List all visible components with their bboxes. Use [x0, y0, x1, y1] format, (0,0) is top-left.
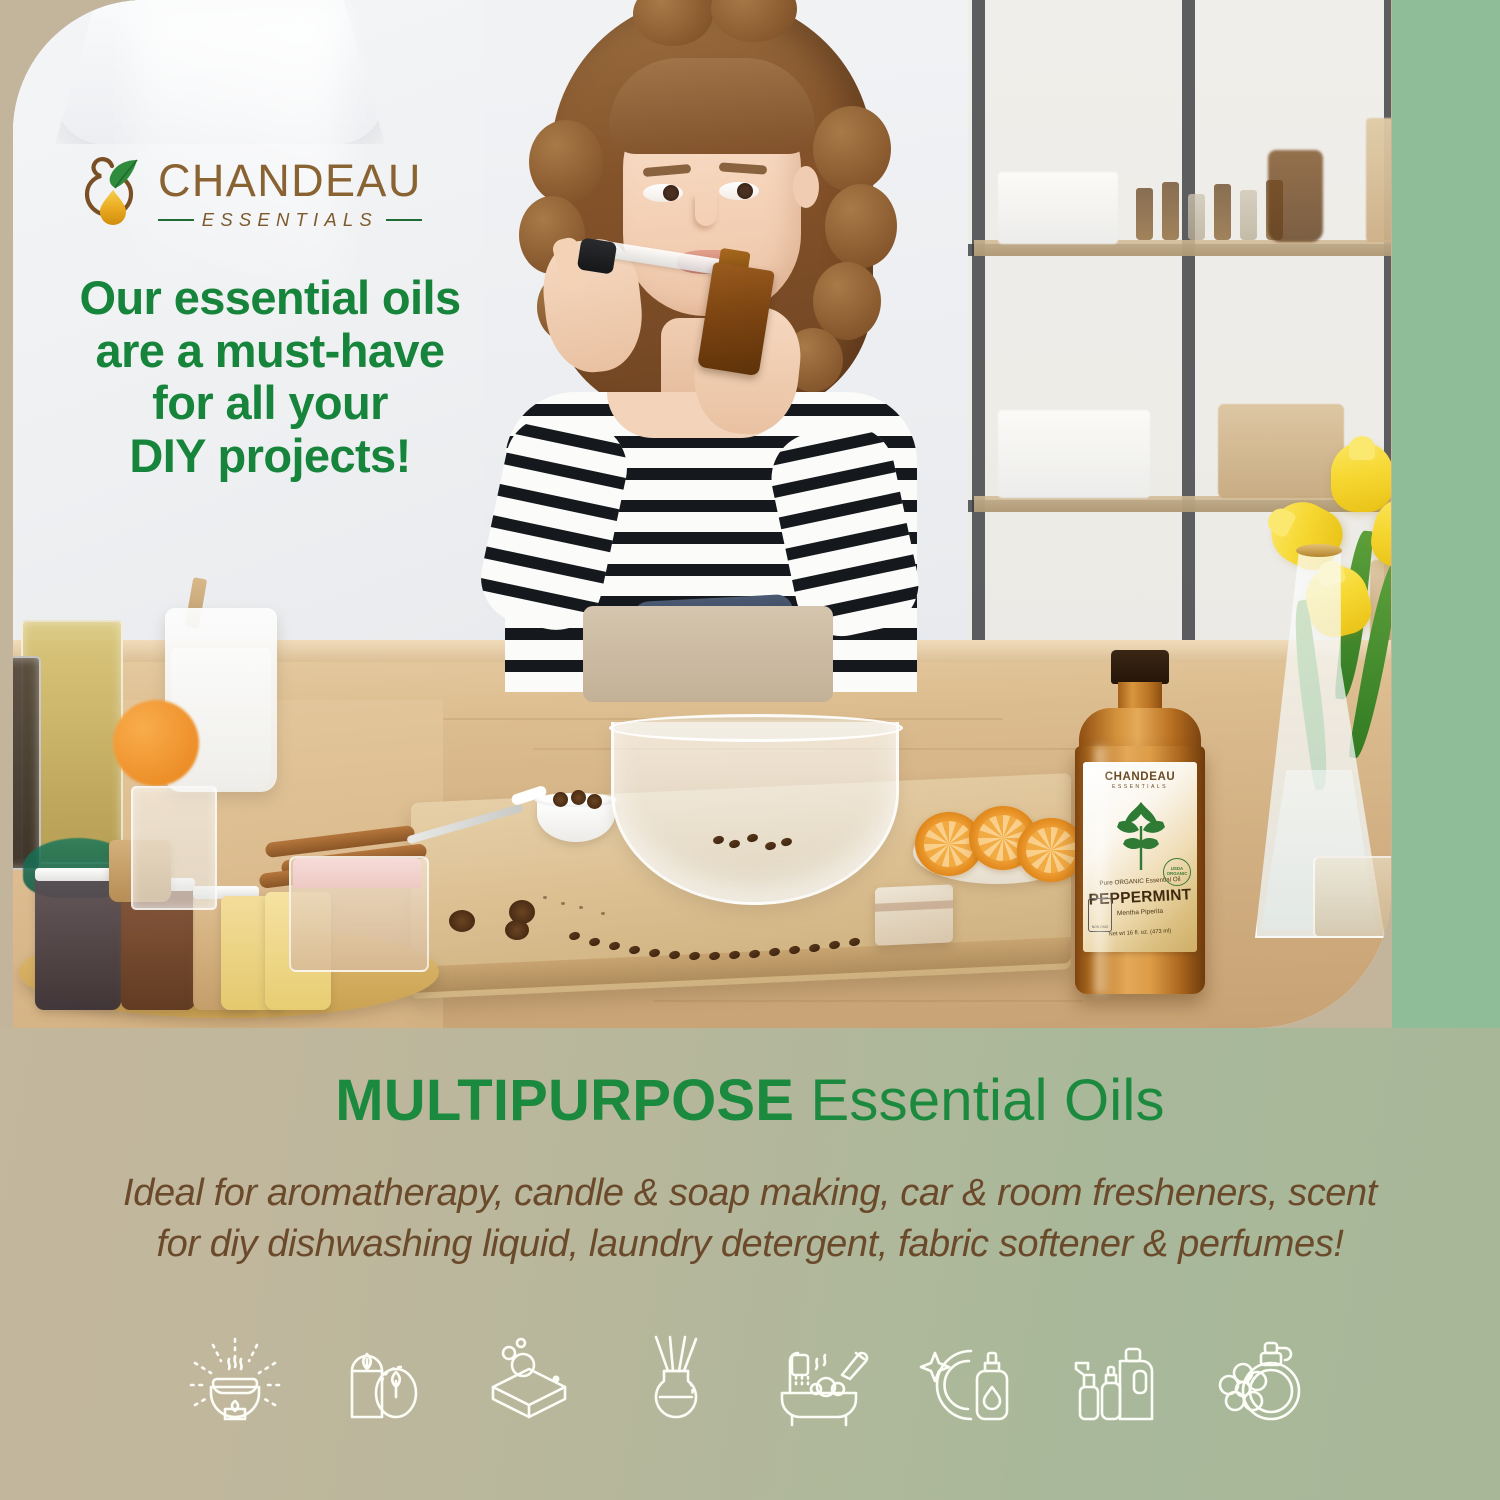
small-vase: [1313, 856, 1391, 938]
nose: [695, 194, 717, 226]
orange-fruit: [113, 700, 199, 786]
dropper-bulb: [577, 237, 618, 274]
seed-tube-jar: [13, 656, 41, 870]
headline-line-2: are a must-have: [60, 325, 480, 378]
use-case-icon-row: [180, 1318, 1320, 1448]
bottom-subtitle-line-2: for diy dishwashing liquid, laundry dete…: [48, 1219, 1452, 1270]
lamp-glow: [133, 0, 343, 290]
hair-fringe: [609, 58, 815, 154]
glass-bowl-rim: [609, 714, 903, 742]
headline: Our essential oils are a must-have for a…: [60, 272, 480, 483]
soap-bar: [875, 884, 953, 946]
glass-container: [131, 786, 217, 910]
bottom-title-light: Essential Oils: [811, 1068, 1165, 1133]
bottle-cap: [1111, 650, 1169, 684]
headline-line-3: for all your: [60, 377, 480, 430]
apron: [583, 606, 833, 702]
brand-wordmark: CHANDEAU ESSENTIALS: [158, 158, 422, 231]
brand-tagline: ESSENTIALS: [202, 209, 378, 231]
reed-diffuser-icon: [621, 1324, 731, 1442]
brand-logo: CHANDEAU ESSENTIALS: [82, 148, 422, 240]
bottom-subtitle-line-1: Ideal for aromatherapy, candle & soap ma…: [48, 1168, 1452, 1219]
person-smelling-oil: [483, 0, 933, 688]
brand-name: CHANDEAU: [158, 158, 422, 203]
dishwashing-liquid-icon: [916, 1324, 1026, 1442]
background-green-strip: [1392, 0, 1500, 1040]
laundry-detergent-icon: [1063, 1324, 1173, 1442]
product-bottle: CHANDEAU ESSENTIALS Pure ORGANIC Essenti…: [1065, 650, 1215, 1000]
bottom-subtitle: Ideal for aromatherapy, candle & soap ma…: [48, 1168, 1452, 1270]
tagline-rule-left: [158, 219, 194, 221]
product-infographic: CHANDEAU ESSENTIALS Pure ORGANIC Essenti…: [0, 0, 1500, 1500]
spice-jar: [35, 874, 121, 1010]
bottom-title: MULTIPURPOSE Essential Oils: [0, 1072, 1500, 1130]
ear: [793, 166, 819, 208]
carafe-gold-rim: [1296, 544, 1342, 557]
headline-line-1: Our essential oils: [60, 272, 480, 325]
bath-dropper-icon: [769, 1324, 879, 1442]
brand-tagline-row: ESSENTIALS: [158, 209, 422, 231]
oil-burner-diffuser-icon: [180, 1324, 290, 1442]
bottle-highlight: [1095, 746, 1113, 994]
headline-line-4: DIY projects!: [60, 430, 480, 483]
tagline-rule-right: [386, 219, 422, 221]
perfume-flower-icon: [1210, 1324, 1320, 1442]
candles-icon: [327, 1324, 437, 1442]
soap-bar-icon: [474, 1324, 584, 1442]
bottom-title-strong: MULTIPURPOSE: [335, 1068, 794, 1133]
pink-salt: [293, 858, 421, 888]
usda-organic-seal: USDA ORGANIC: [1163, 858, 1191, 886]
oil-drop-leaf-logo-icon: [82, 148, 148, 240]
yellow-tulip: [1331, 442, 1391, 512]
